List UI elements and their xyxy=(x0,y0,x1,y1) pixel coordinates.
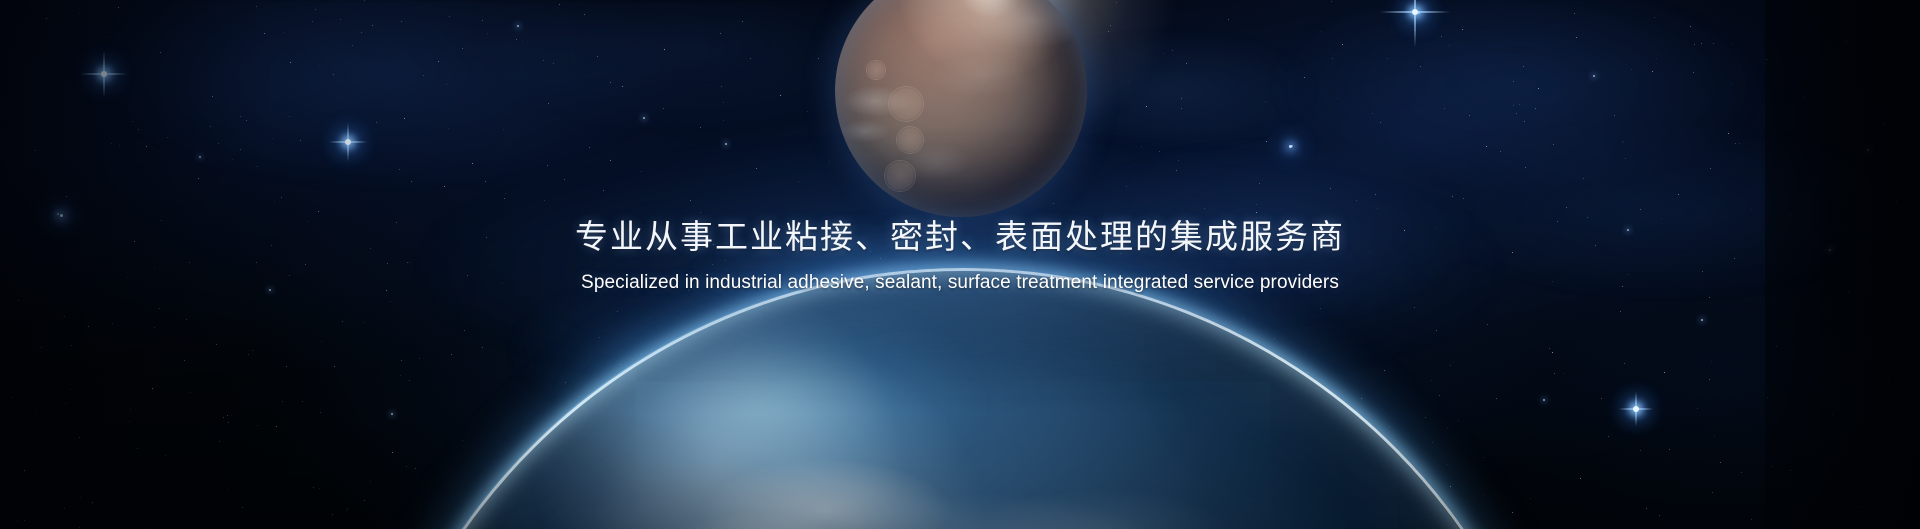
star xyxy=(1635,407,1638,410)
star xyxy=(756,168,757,169)
star-core xyxy=(1187,437,1193,443)
star xyxy=(617,311,618,312)
star xyxy=(1313,381,1314,382)
star xyxy=(487,33,488,34)
star xyxy=(65,403,66,404)
star xyxy=(1512,512,1513,513)
star xyxy=(1266,141,1267,142)
star xyxy=(449,16,450,17)
star xyxy=(482,20,483,21)
star xyxy=(444,186,445,187)
star xyxy=(1583,178,1584,179)
star-spike-horizontal xyxy=(1619,408,1653,410)
star xyxy=(1449,45,1450,46)
star xyxy=(700,212,701,213)
star xyxy=(1623,141,1624,142)
star-spike-vertical xyxy=(103,51,105,97)
star xyxy=(88,326,89,327)
star xyxy=(64,316,65,317)
star xyxy=(548,103,549,104)
star xyxy=(401,21,402,22)
star xyxy=(290,62,291,63)
star xyxy=(1159,151,1160,152)
star xyxy=(419,358,420,359)
star xyxy=(240,116,241,117)
star-core xyxy=(345,139,351,145)
star xyxy=(1228,19,1229,20)
star xyxy=(159,308,160,309)
star xyxy=(71,345,72,346)
diffraction-star xyxy=(1177,427,1203,453)
star xyxy=(242,507,243,508)
star xyxy=(104,72,107,75)
star xyxy=(1669,449,1670,450)
star xyxy=(1519,104,1520,105)
star xyxy=(1538,88,1539,89)
star xyxy=(1469,115,1470,116)
star xyxy=(1384,370,1385,371)
star xyxy=(1739,143,1740,144)
star xyxy=(564,179,565,180)
star xyxy=(257,425,258,426)
star-spike-vertical xyxy=(1189,427,1191,453)
star xyxy=(119,145,120,146)
star xyxy=(1701,43,1702,44)
star xyxy=(1751,209,1752,210)
star xyxy=(1593,75,1595,77)
star xyxy=(111,143,112,144)
star xyxy=(1420,66,1421,67)
star xyxy=(1530,498,1531,499)
star xyxy=(1513,81,1514,82)
rocky-planet xyxy=(835,0,1087,217)
star xyxy=(227,415,228,416)
star xyxy=(190,392,191,393)
star xyxy=(70,389,71,390)
star xyxy=(1141,146,1142,147)
star xyxy=(35,150,36,151)
star xyxy=(1291,145,1293,147)
star xyxy=(1321,31,1322,32)
star xyxy=(1395,440,1396,441)
star xyxy=(154,327,155,328)
star xyxy=(199,156,201,158)
star xyxy=(1625,158,1626,159)
star xyxy=(21,108,22,109)
star xyxy=(274,201,275,202)
star xyxy=(102,72,104,74)
star xyxy=(232,159,233,160)
star xyxy=(92,502,93,503)
star-spike-horizontal xyxy=(81,73,127,75)
star xyxy=(218,143,219,144)
diffraction-star xyxy=(1619,392,1653,426)
star xyxy=(1452,196,1453,197)
star xyxy=(451,354,452,355)
star xyxy=(464,513,465,514)
star xyxy=(370,481,371,482)
star xyxy=(406,466,407,467)
star xyxy=(333,74,334,75)
star xyxy=(504,198,505,199)
star xyxy=(1631,69,1632,70)
star xyxy=(1640,450,1641,451)
star xyxy=(57,213,59,215)
star xyxy=(1163,53,1164,54)
star xyxy=(137,448,138,449)
star-spike-vertical xyxy=(347,123,349,161)
star xyxy=(35,412,36,413)
star xyxy=(1128,81,1129,82)
star xyxy=(1624,363,1625,364)
star xyxy=(1431,380,1432,381)
star xyxy=(1415,30,1416,31)
star xyxy=(186,319,187,320)
star xyxy=(1652,71,1653,72)
star xyxy=(700,127,701,128)
star xyxy=(400,375,401,376)
star xyxy=(1414,307,1415,308)
star xyxy=(1146,106,1147,107)
star xyxy=(300,140,301,141)
star xyxy=(522,41,523,42)
star xyxy=(1380,122,1381,123)
star xyxy=(1304,77,1305,78)
star xyxy=(346,140,348,142)
star-spike-horizontal xyxy=(1380,11,1450,13)
star xyxy=(321,341,322,342)
star xyxy=(146,146,147,147)
star xyxy=(1331,1,1332,2)
star xyxy=(1387,58,1388,59)
star xyxy=(720,33,721,34)
star xyxy=(165,455,166,456)
star xyxy=(79,437,80,438)
star xyxy=(392,452,393,453)
star xyxy=(364,322,365,323)
star xyxy=(8,207,9,208)
star xyxy=(1356,200,1357,201)
star xyxy=(1646,508,1647,509)
star xyxy=(79,13,80,14)
star xyxy=(1484,495,1485,496)
star xyxy=(1496,398,1497,399)
star xyxy=(1654,17,1655,18)
star xyxy=(276,426,277,427)
star xyxy=(517,25,519,27)
star xyxy=(24,520,25,521)
star xyxy=(603,190,604,191)
earth-planet xyxy=(352,268,1568,529)
star xyxy=(79,527,80,528)
star xyxy=(277,485,278,486)
star xyxy=(12,397,13,398)
star xyxy=(1439,395,1440,396)
star xyxy=(565,382,566,383)
star xyxy=(742,21,743,22)
star xyxy=(1126,186,1127,187)
star xyxy=(17,520,18,521)
star xyxy=(80,497,81,498)
star xyxy=(641,171,642,172)
star xyxy=(1690,26,1691,27)
star xyxy=(64,508,65,509)
star xyxy=(66,196,67,197)
star xyxy=(1116,2,1117,3)
star xyxy=(547,165,548,166)
star xyxy=(138,129,139,130)
earth-surface-texture xyxy=(352,268,1568,529)
star xyxy=(347,141,350,144)
star xyxy=(118,7,119,8)
star xyxy=(1110,25,1111,26)
star xyxy=(553,63,554,64)
star xyxy=(1462,29,1463,30)
star xyxy=(1458,420,1459,421)
star xyxy=(798,181,799,182)
star xyxy=(1713,43,1714,44)
star xyxy=(361,32,362,33)
star xyxy=(334,366,335,367)
star xyxy=(589,147,590,148)
star xyxy=(1614,115,1615,116)
star xyxy=(1181,98,1182,99)
star xyxy=(332,514,333,515)
earth-terminator-shadow xyxy=(352,268,1568,529)
star xyxy=(1108,31,1109,32)
star xyxy=(1566,207,1567,208)
star xyxy=(1483,457,1484,458)
star xyxy=(240,149,241,150)
star xyxy=(1574,13,1575,14)
star xyxy=(1259,183,1260,184)
star xyxy=(129,421,130,422)
star xyxy=(584,14,585,15)
star xyxy=(1447,464,1448,465)
star xyxy=(723,120,724,121)
star xyxy=(1580,478,1581,479)
star xyxy=(1549,348,1550,349)
star xyxy=(24,166,25,167)
star xyxy=(462,48,463,49)
star xyxy=(721,86,722,87)
star xyxy=(1751,519,1752,520)
star xyxy=(219,441,220,442)
star xyxy=(1709,379,1710,380)
star xyxy=(438,61,439,62)
star xyxy=(641,353,642,354)
star xyxy=(1640,209,1641,210)
star xyxy=(1552,352,1553,353)
star xyxy=(1576,37,1577,38)
star xyxy=(1622,142,1623,143)
star xyxy=(1525,167,1526,168)
diffraction-star xyxy=(81,51,127,97)
star xyxy=(1444,108,1445,109)
star xyxy=(60,214,63,217)
star xyxy=(1432,442,1433,443)
star xyxy=(1535,108,1536,109)
star xyxy=(1330,188,1331,189)
star xyxy=(1243,318,1244,319)
star xyxy=(318,211,319,212)
star xyxy=(152,388,153,389)
star xyxy=(643,117,645,119)
star xyxy=(1741,472,1742,473)
star xyxy=(41,347,42,348)
star xyxy=(1361,398,1362,399)
star xyxy=(109,37,110,38)
star xyxy=(485,181,486,182)
star xyxy=(153,449,154,450)
star xyxy=(130,409,131,410)
star xyxy=(620,364,621,365)
star xyxy=(1377,208,1378,209)
star xyxy=(559,4,560,5)
star xyxy=(423,75,424,76)
star xyxy=(1693,72,1694,73)
star xyxy=(1543,399,1545,401)
star xyxy=(411,181,412,182)
star xyxy=(313,487,314,488)
star xyxy=(482,347,483,348)
star xyxy=(1274,338,1275,339)
star xyxy=(462,440,463,441)
star xyxy=(622,86,623,87)
star xyxy=(464,330,465,331)
star xyxy=(818,58,819,59)
star-core xyxy=(1633,406,1639,412)
star-core xyxy=(101,71,107,77)
star xyxy=(1486,146,1487,147)
star xyxy=(503,129,504,130)
star xyxy=(252,350,253,351)
star xyxy=(1186,63,1187,64)
star xyxy=(342,321,343,322)
star xyxy=(46,18,47,19)
star xyxy=(352,45,353,46)
star xyxy=(1307,372,1308,373)
star xyxy=(212,96,213,97)
star xyxy=(24,470,25,471)
star xyxy=(223,417,224,418)
star xyxy=(320,412,321,413)
star xyxy=(807,111,808,112)
star xyxy=(516,39,517,40)
star xyxy=(312,21,313,22)
star xyxy=(347,508,348,509)
headline-english: Specialized in industrial adhesive, seal… xyxy=(0,272,1920,294)
star xyxy=(1553,144,1554,145)
star xyxy=(1265,101,1266,102)
star xyxy=(1176,170,1177,171)
star xyxy=(1664,372,1665,373)
star xyxy=(302,401,303,402)
star-spike-horizontal xyxy=(329,141,367,143)
star xyxy=(1659,515,1660,516)
star xyxy=(390,301,391,302)
star xyxy=(1463,198,1464,199)
star xyxy=(401,360,402,361)
star xyxy=(1735,143,1736,144)
star xyxy=(599,337,600,338)
star xyxy=(544,200,545,201)
star xyxy=(167,137,168,138)
star xyxy=(829,161,830,162)
star xyxy=(1500,151,1501,152)
star xyxy=(1441,36,1442,37)
diffraction-star xyxy=(329,123,367,161)
earth-limb-highlight xyxy=(560,290,980,480)
earth-limb-arc xyxy=(352,268,1574,529)
star xyxy=(248,354,249,355)
star xyxy=(210,126,211,127)
star xyxy=(246,120,247,121)
star xyxy=(1656,58,1657,59)
star xyxy=(1204,208,1205,209)
star xyxy=(284,32,285,33)
star xyxy=(340,19,341,20)
star xyxy=(1447,428,1448,429)
star xyxy=(610,82,611,83)
hero-copy-block: 专业从事工业粘接、密封、表面处理的集成服务商 Specialized in in… xyxy=(0,218,1920,294)
star xyxy=(346,510,347,511)
star xyxy=(18,300,19,301)
star xyxy=(257,166,258,167)
star xyxy=(750,58,751,59)
star xyxy=(1289,145,1292,148)
star xyxy=(1256,204,1257,205)
star xyxy=(184,360,185,361)
star xyxy=(1714,436,1715,437)
diffraction-star xyxy=(1380,0,1450,47)
star xyxy=(543,60,544,61)
star xyxy=(1178,160,1179,161)
star xyxy=(364,0,365,1)
star xyxy=(1320,308,1321,309)
star xyxy=(1732,43,1733,44)
star xyxy=(1516,113,1517,114)
star xyxy=(663,108,664,109)
star xyxy=(404,118,405,119)
star xyxy=(1678,194,1679,195)
star xyxy=(1728,133,1729,134)
star xyxy=(132,121,133,122)
star xyxy=(1564,373,1565,374)
star xyxy=(1372,113,1373,114)
star xyxy=(1375,194,1376,195)
star xyxy=(315,9,316,10)
star xyxy=(264,33,265,34)
star xyxy=(228,422,229,423)
star xyxy=(319,488,320,489)
star xyxy=(415,468,416,469)
star-spike-vertical xyxy=(1635,392,1637,426)
star xyxy=(1342,44,1343,45)
star xyxy=(780,95,781,96)
star xyxy=(1389,426,1390,427)
headline-chinese: 专业从事工业粘接、密封、表面处理的集成服务商 xyxy=(0,218,1920,258)
star xyxy=(610,160,611,161)
hero-banner: 专业从事工业粘接、密封、表面处理的集成服务商 Specialized in in… xyxy=(0,0,1920,529)
star xyxy=(289,116,290,117)
star xyxy=(1181,108,1182,109)
star xyxy=(1417,11,1420,14)
star xyxy=(1720,462,1721,463)
star xyxy=(281,197,282,198)
star xyxy=(723,102,724,103)
star xyxy=(1620,311,1621,312)
